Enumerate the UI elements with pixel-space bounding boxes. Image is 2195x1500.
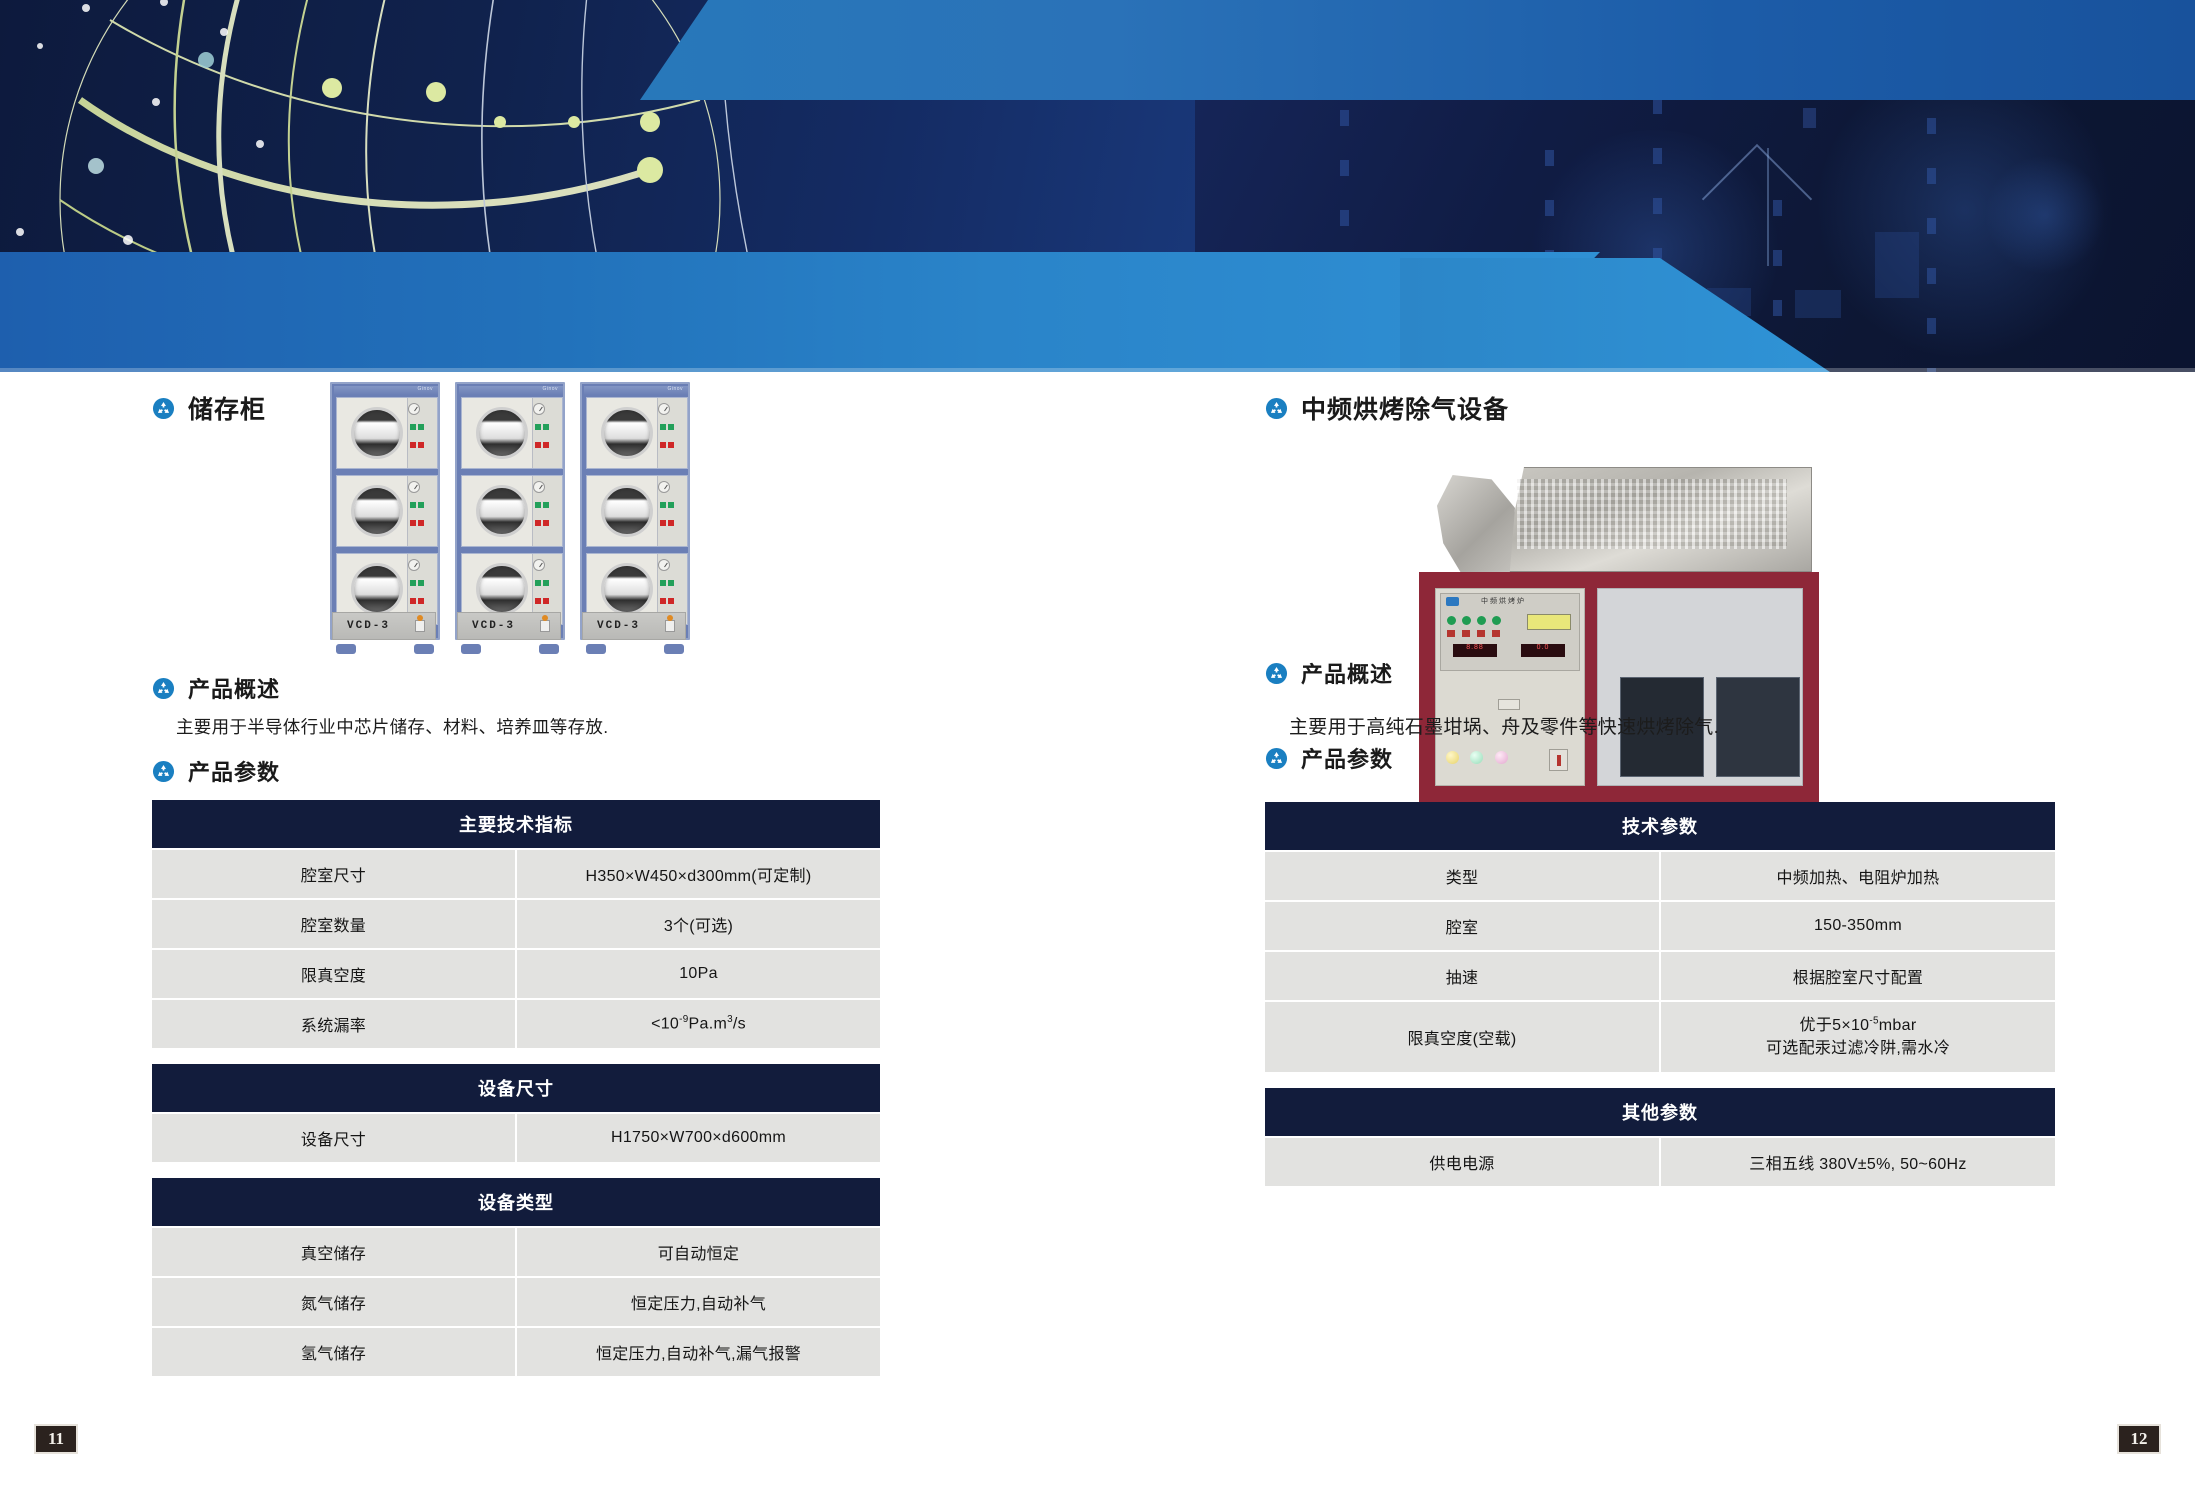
recycle-icon [152, 760, 175, 783]
row-value: H1750×W700×d600mm [516, 1113, 880, 1163]
brand-logo [1446, 597, 1459, 606]
right-params-heading: 产品参数 [1265, 742, 1393, 774]
induction-furnace-image: 中频烘烤炉 8.88 0.0 [1407, 467, 1837, 827]
row-key: 氮气储存 [152, 1277, 516, 1327]
cabinet-model-label: VCD-3 [472, 620, 515, 632]
vacuum-exp: -5 [1869, 1016, 1878, 1027]
right-table-other-params: 其他参数 供电电源 三相五线 380V±5%, 50~60Hz [1265, 1088, 2055, 1188]
right-overview-heading: 产品概述 [1265, 657, 1393, 689]
right-column: 中频烘烤除气设备 中频烘烤炉 8.88 0.0 [1097, 372, 2195, 1500]
table-header: 设备尺寸 [152, 1064, 880, 1113]
vacuum-line-1: 优于5×10-5mbar [1667, 1014, 2049, 1037]
header-banner [0, 0, 2195, 372]
table-header: 设备类型 [152, 1178, 880, 1227]
indicator-lamp [1470, 751, 1483, 764]
row-value: 恒定压力,自动补气 [516, 1277, 880, 1327]
row-key: 限真空度(空载) [1265, 1001, 1660, 1073]
left-product-title-text: 储存柜 [188, 390, 266, 426]
row-key: 腔室数量 [152, 899, 516, 949]
table-row: 设备尺寸 H1750×W700×d600mm [152, 1113, 880, 1163]
right-product-title: 中频烘烤除气设备 [1265, 390, 1509, 426]
table-header: 技术参数 [1265, 802, 2055, 851]
furnace-lcd [1527, 614, 1571, 630]
left-column: 储存柜 Ginov [0, 372, 1097, 1500]
furnace-panel-label: 中频烘烤炉 [1481, 596, 1526, 606]
row-value-leakrate: <10-9Pa.m3/s [516, 999, 880, 1049]
row-value: 10Pa [516, 949, 880, 999]
table-row: 氢气储存 恒定压力,自动补气,漏气报警 [152, 1327, 880, 1377]
row-key: 系统漏率 [152, 999, 516, 1049]
left-table-equipment-size: 设备尺寸 设备尺寸 H1750×W700×d600mm [152, 1064, 880, 1164]
row-key: 真空储存 [152, 1227, 516, 1277]
row-value: 中频加热、电阻炉加热 [1660, 851, 2055, 901]
leak-suffix: /s [733, 1016, 746, 1033]
glow-orb [1985, 155, 2105, 275]
table-row: 腔室尺寸 H350×W450×d300mm(可定制) [152, 849, 880, 899]
tech-square [1803, 108, 1816, 128]
row-key: 供电电源 [1265, 1137, 1660, 1187]
left-table-equipment-type: 设备类型 真空储存 可自动恒定 氮气储存 恒定压力,自动补气 氢气储存 恒定压力… [152, 1178, 880, 1378]
left-overview-text: 主要用于半导体行业中芯片储存、材料、培养皿等存放. [176, 714, 608, 739]
page-number-left: 11 [34, 1424, 78, 1454]
vacuum-prefix: 优于5×10 [1800, 1017, 1870, 1034]
tech-square [1875, 232, 1919, 298]
vacuum-line-2: 可选配汞过滤冷阱,需水冷 [1667, 1037, 2049, 1060]
row-value: 恒定压力,自动补气,漏气报警 [516, 1327, 880, 1377]
table-row: 限真空度 10Pa [152, 949, 880, 999]
row-value: 三相五线 380V±5%, 50~60Hz [1660, 1137, 2055, 1187]
right-overview-heading-text: 产品概述 [1301, 657, 1393, 689]
banner-ribbon-lower [0, 252, 1600, 372]
row-key: 抽速 [1265, 951, 1660, 1001]
furnace-display: 0.0 [1521, 644, 1565, 657]
row-value-vacuum: 优于5×10-5mbar 可选配汞过滤冷阱,需水冷 [1660, 1001, 2055, 1073]
recycle-icon [152, 677, 175, 700]
left-overview-heading: 产品概述 [152, 672, 280, 704]
recycle-icon [152, 397, 175, 420]
row-value: 根据腔室尺寸配置 [1660, 951, 2055, 1001]
row-key: 腔室尺寸 [152, 849, 516, 899]
brochure-page: 储存柜 Ginov [0, 0, 2195, 1500]
page-number-right: 12 [2117, 1424, 2161, 1454]
row-key: 氢气储存 [152, 1327, 516, 1377]
leak-exp1: -9 [679, 1014, 688, 1025]
leak-prefix: <10 [651, 1016, 679, 1033]
left-table-main-specs: 主要技术指标 腔室尺寸 H350×W450×d300mm(可定制) 腔室数量 3… [152, 800, 880, 1050]
row-key: 腔室 [1265, 901, 1660, 951]
cabinet-model-label: VCD-3 [597, 620, 640, 632]
table-header: 主要技术指标 [152, 800, 880, 849]
table-row: 限真空度(空载) 优于5×10-5mbar 可选配汞过滤冷阱,需水冷 [1265, 1001, 2055, 1073]
table-row: 腔室 150-350mm [1265, 901, 2055, 951]
power-switch[interactable] [1549, 749, 1568, 771]
row-value: H350×W450×d300mm(可定制) [516, 849, 880, 899]
row-key: 设备尺寸 [152, 1113, 516, 1163]
banner-ribbon-upper [640, 0, 2195, 100]
row-value: 150-350mm [1660, 901, 2055, 951]
table-row: 抽速 根据腔室尺寸配置 [1265, 951, 2055, 1001]
table-row: 氮气储存 恒定压力,自动补气 [152, 1277, 880, 1327]
row-value: 可自动恒定 [516, 1227, 880, 1277]
recycle-icon [1265, 397, 1288, 420]
indicator-lamp [1446, 751, 1459, 764]
left-params-heading: 产品参数 [152, 755, 280, 787]
dot-column [1927, 118, 1936, 372]
row-value: 3个(可选) [516, 899, 880, 949]
cabinet-model-label: VCD-3 [347, 620, 390, 632]
table-row: 供电电源 三相五线 380V±5%, 50~60Hz [1265, 1137, 2055, 1187]
right-product-title-text: 中频烘烤除气设备 [1301, 390, 1509, 426]
row-key: 限真空度 [152, 949, 516, 999]
left-overview-heading-text: 产品概述 [188, 672, 280, 704]
right-overview-text: 主要用于高纯石墨坩埚、舟及零件等快速烘烤除气. [1289, 712, 1719, 739]
storage-cabinet-image: Ginov [330, 382, 710, 672]
furnace-display: 8.88 [1453, 644, 1497, 657]
tech-square [1795, 290, 1841, 318]
indicator-lamp [1495, 751, 1508, 764]
table-header: 其他参数 [1265, 1088, 2055, 1137]
leak-mid: Pa.m [689, 1016, 728, 1033]
tech-line [1767, 148, 1769, 266]
recycle-icon [1265, 662, 1288, 685]
left-spec-tables: 主要技术指标 腔室尺寸 H350×W450×d300mm(可定制) 腔室数量 3… [152, 800, 880, 1378]
table-row: 系统漏率 <10-9Pa.m3/s [152, 999, 880, 1049]
row-key: 类型 [1265, 851, 1660, 901]
table-row: 腔室数量 3个(可选) [152, 899, 880, 949]
vacuum-suffix: mbar [1879, 1017, 1917, 1034]
right-params-heading-text: 产品参数 [1301, 742, 1393, 774]
recycle-icon [1265, 747, 1288, 770]
right-table-tech-params: 技术参数 类型 中频加热、电阻炉加热 腔室 150-350mm 抽速 根据腔室尺… [1265, 802, 2055, 1074]
table-row: 类型 中频加热、电阻炉加热 [1265, 851, 2055, 901]
right-spec-tables: 技术参数 类型 中频加热、电阻炉加热 腔室 150-350mm 抽速 根据腔室尺… [1265, 802, 2055, 1188]
left-params-heading-text: 产品参数 [188, 755, 280, 787]
left-product-title: 储存柜 [152, 390, 266, 426]
table-row: 真空储存 可自动恒定 [152, 1227, 880, 1277]
